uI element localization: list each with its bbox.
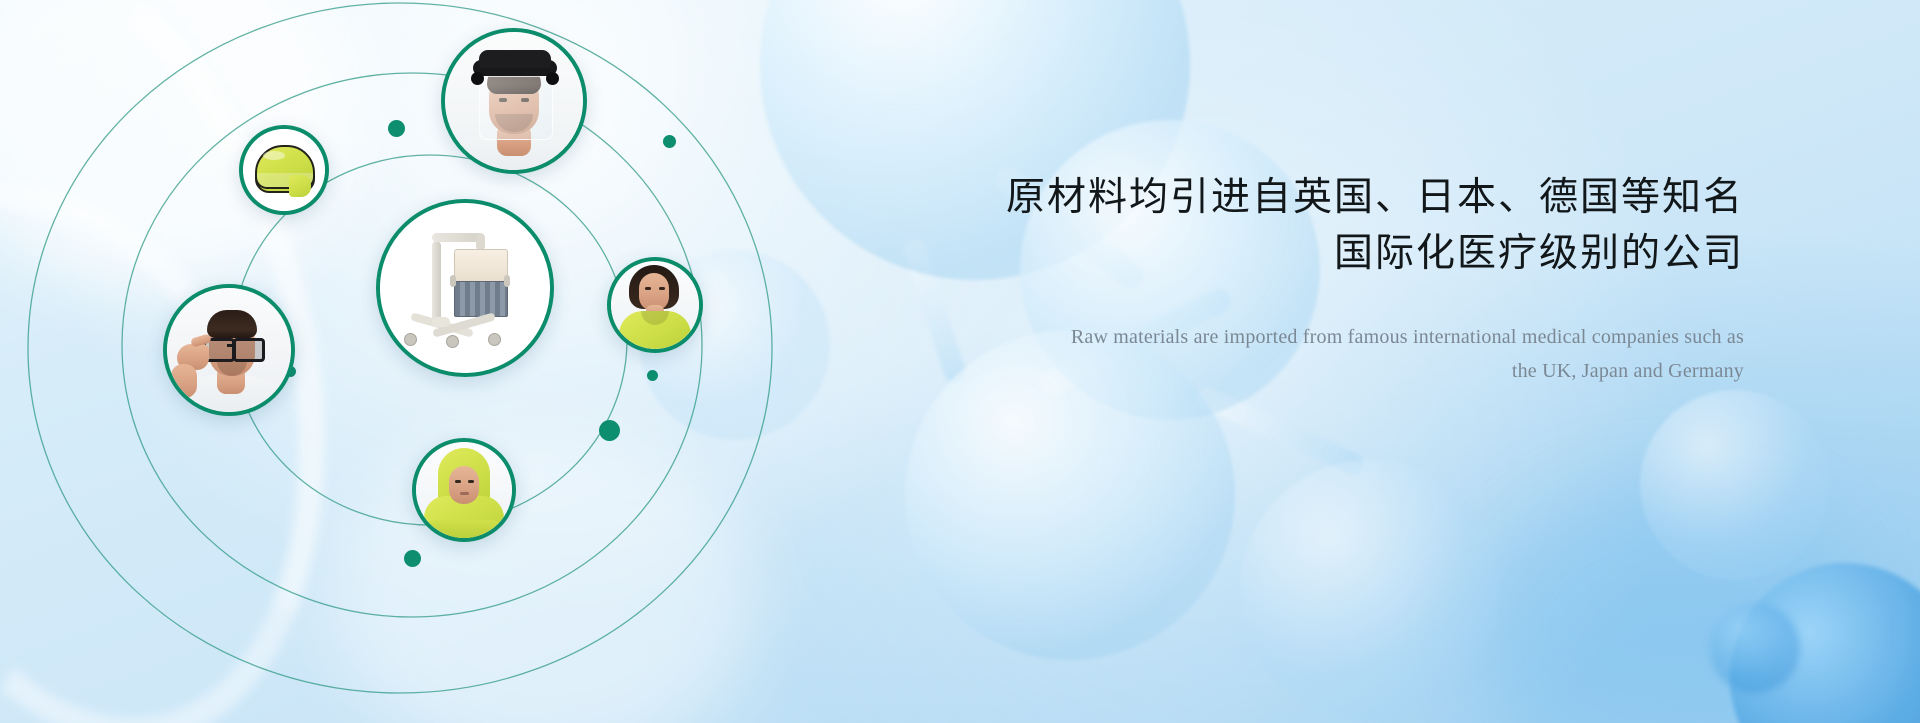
banner-subtitle: Raw materials are imported from famous i… (984, 320, 1744, 388)
orbit-node-dot (599, 420, 620, 441)
blue-orb-graphic (1710, 603, 1800, 693)
bubble-lead-glasses[interactable] (163, 284, 295, 416)
bubble-face-shield[interactable] (441, 28, 587, 174)
face-shield-technician-photo (445, 32, 583, 170)
molecule-bond-graphic (1193, 384, 1366, 477)
orbit-node-dot (647, 370, 658, 381)
orbit-node-dot (404, 550, 421, 567)
page-title: 原材料均引进自英国、日本、德国等知名 国际化医疗级别的公司 (984, 170, 1744, 282)
radiation-protective-hood-photo (416, 442, 512, 538)
thyroid-collar-model-photo (611, 261, 699, 349)
lead-glasses-technician-photo (167, 288, 291, 412)
bubble-mobile-shield[interactable] (376, 199, 554, 377)
bubble-thyroid-collar[interactable] (607, 257, 703, 353)
subtitle-line-1: Raw materials are imported from famous i… (1071, 326, 1744, 348)
banner-copy: 原材料均引进自英国、日本、德国等知名 国际化医疗级别的公司 Raw materi… (984, 170, 1744, 388)
molecule-sphere-graphic (1240, 460, 1500, 720)
lead-protective-cap-product (243, 129, 325, 211)
molecule-sphere-graphic (1640, 390, 1830, 580)
headline-line-2: 国际化医疗级别的公司 (984, 226, 1744, 282)
orbit-node-dot (663, 135, 676, 148)
orbit-node-dot (388, 120, 405, 137)
background-haze (1480, 480, 1860, 723)
subtitle-line-2: the UK, Japan and Germany (984, 354, 1744, 388)
bubble-lime-cap[interactable] (239, 125, 329, 215)
headline-line-1: 原材料均引进自英国、日本、德国等知名 (1006, 176, 1744, 219)
mobile-x-ray-barrier-product (380, 203, 550, 373)
bubble-lead-hood[interactable] (412, 438, 516, 542)
molecule-bond-graphic (901, 236, 968, 385)
hero-banner: 原材料均引进自英国、日本、德国等知名 国际化医疗级别的公司 Raw materi… (0, 0, 1920, 723)
blue-orb-graphic (1730, 563, 1920, 723)
